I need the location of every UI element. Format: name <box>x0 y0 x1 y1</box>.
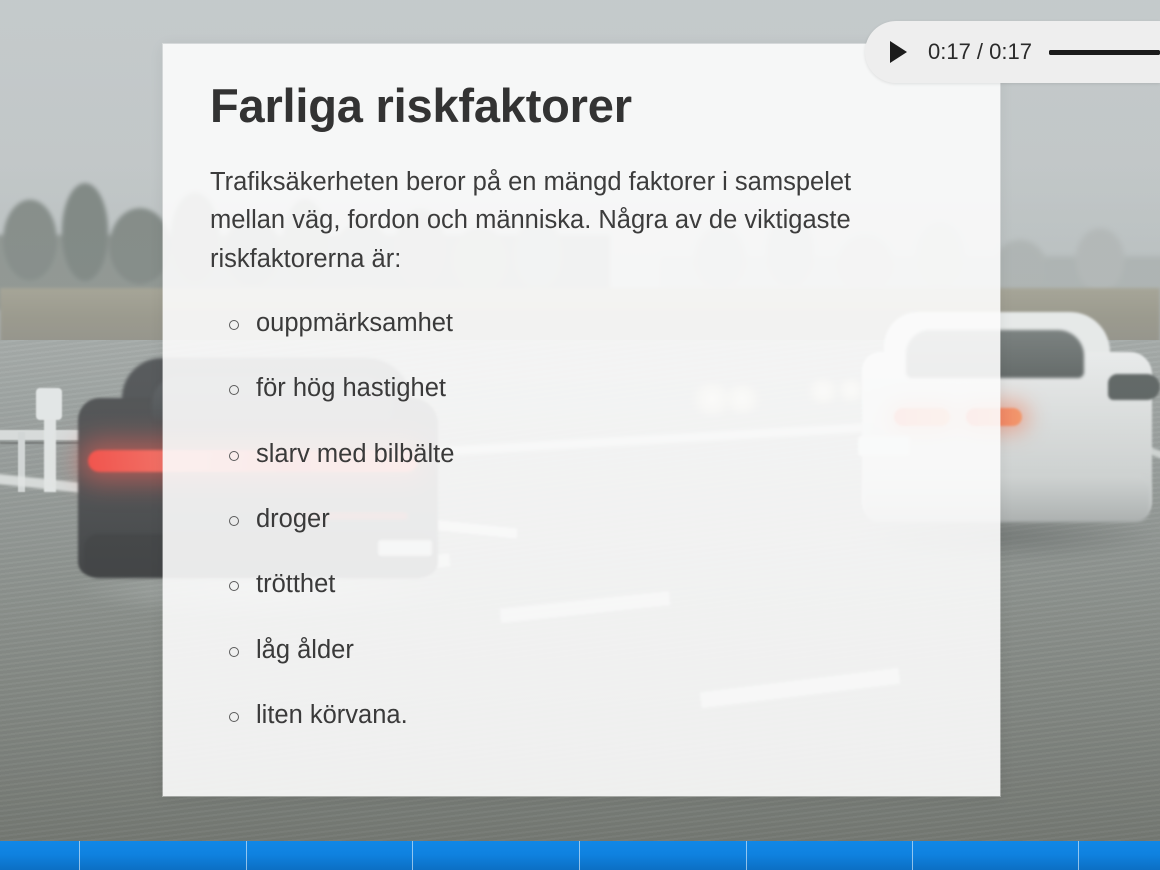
risk-factor-list: ouppmärksamhet för hög hastighet slarv m… <box>210 309 954 730</box>
time-display: 0:17 / 0:17 <box>928 39 1032 65</box>
hollow-circle-bullet-icon <box>229 516 239 526</box>
roadside-marker <box>36 388 62 420</box>
list-item-label: ouppmärksamhet <box>256 309 453 337</box>
progress-segment-3[interactable] <box>247 841 413 870</box>
progress-segment-4[interactable] <box>413 841 580 870</box>
hollow-circle-bullet-icon <box>229 451 239 461</box>
list-item-label: liten körvana. <box>256 701 408 729</box>
progress-segment-2[interactable] <box>80 841 247 870</box>
hollow-circle-bullet-icon <box>229 385 239 395</box>
play-triangle-icon <box>890 41 907 63</box>
list-item: låg ålder <box>210 636 954 665</box>
list-item-label: trötthet <box>256 570 335 598</box>
list-item: liten körvana. <box>210 701 954 730</box>
list-item-label: för hög hastighet <box>256 374 446 402</box>
progress-segment-1[interactable] <box>0 841 80 870</box>
slide-progress-bar[interactable] <box>0 841 1160 870</box>
list-item: droger <box>210 505 954 534</box>
slide-title: Farliga riskfaktorer <box>210 80 954 132</box>
progress-segment-6[interactable] <box>747 841 913 870</box>
progress-segment-5[interactable] <box>580 841 747 870</box>
progress-segment-7[interactable] <box>913 841 1079 870</box>
list-item: trötthet <box>210 570 954 599</box>
list-item-label: droger <box>256 505 330 533</box>
hollow-circle-bullet-icon <box>229 712 239 722</box>
play-button[interactable] <box>887 40 909 64</box>
video-controls[interactable]: 0:17 / 0:17 <box>865 21 1160 83</box>
slide-viewer: Farliga riskfaktorer Trafiksäkerheten be… <box>0 0 1160 870</box>
side-mirror <box>1108 374 1160 400</box>
hollow-circle-bullet-icon <box>229 320 239 330</box>
slide-content-card: Farliga riskfaktorer Trafiksäkerheten be… <box>163 44 1000 796</box>
list-item-label: slarv med bilbälte <box>256 440 454 468</box>
hollow-circle-bullet-icon <box>229 647 239 657</box>
list-item: för hög hastighet <box>210 374 954 403</box>
list-item-label: låg ålder <box>256 636 354 664</box>
list-item: slarv med bilbälte <box>210 440 954 469</box>
video-progress-fill <box>1049 50 1160 55</box>
slide-paragraph: Trafiksäkerheten beror på en mängd fakto… <box>210 163 890 279</box>
progress-segment-8[interactable] <box>1079 841 1160 870</box>
hollow-circle-bullet-icon <box>229 581 239 591</box>
video-progress-bar[interactable] <box>1049 50 1160 55</box>
list-item: ouppmärksamhet <box>210 309 954 338</box>
